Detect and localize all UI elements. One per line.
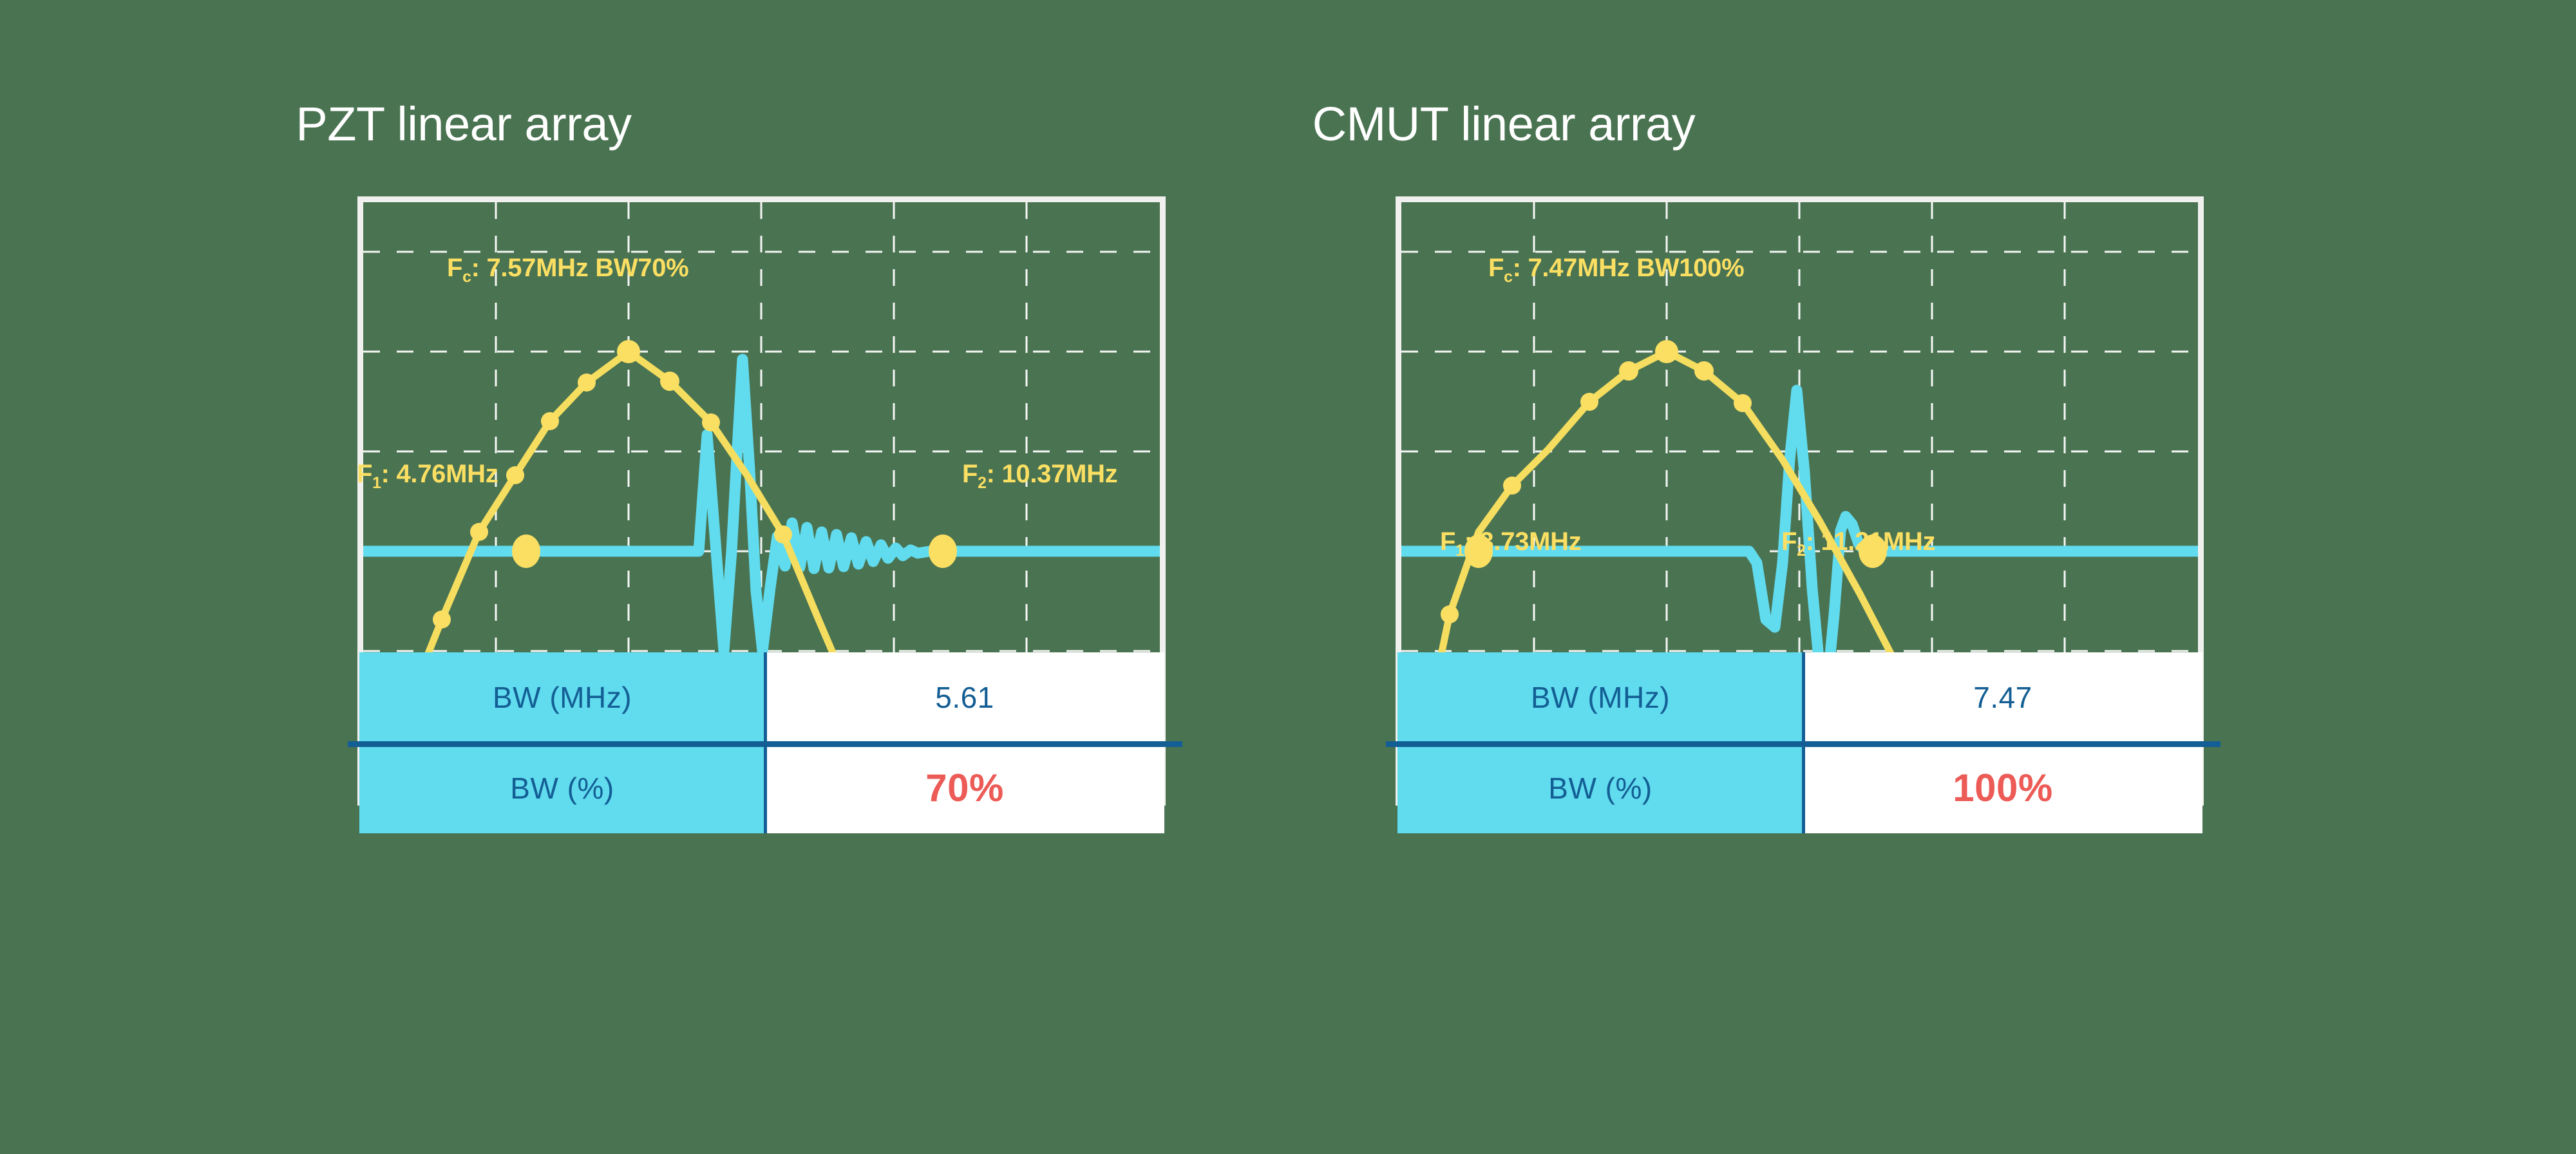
panel-title-cmut: CMUT linear array [924, 97, 2083, 151]
bw-mhz-label-pzt: BW (MHz) [359, 652, 765, 743]
annotation-center-sub-pzt: c [462, 269, 471, 286]
annotation-center-prefix-cmut: F [1488, 254, 1504, 282]
annotation-lower-cmut: F1: 3.73MHz [1440, 527, 1581, 560]
annotation-lower-prefix-pzt: F [357, 460, 372, 488]
annotation-upper-prefix-cmut: F [1781, 527, 1797, 556]
annotation-lower-prefix-cmut: F [1440, 527, 1455, 556]
annotation-upper-prefix-pzt: F [962, 460, 978, 488]
panel-title-pzt: PZT linear array [0, 97, 1043, 151]
bw-percent-label-pzt: BW (%) [359, 743, 765, 834]
annotation-center-text-pzt: : 7.57MHz BW70% [471, 254, 689, 282]
bw-mhz-label-cmut: BW (MHz) [1397, 652, 1803, 743]
annotation-lower-pzt: F1: 4.76MHz [357, 460, 498, 493]
annotation-center-cmut: Fc: 7.47MHz BW100% [1488, 254, 1744, 287]
annotation-lower-sub-cmut: 1 [1455, 542, 1464, 560]
annotation-center-text-cmut: : 7.47MHz BW100% [1513, 254, 1745, 282]
cutoff-marker-f2-pzt [929, 534, 957, 568]
annotation-upper-sub-cmut: 2 [1797, 542, 1806, 560]
annotation-lower-text-cmut: : 3.73MHz [1464, 527, 1582, 556]
bw-table-cmut: BW (MHz) 7.47 BW (%) 100% [1397, 652, 2202, 833]
annotation-upper-text-cmut: : 11.21MHz [1806, 527, 1936, 556]
annotation-lower-text-pzt: : 4.76MHz [381, 460, 498, 488]
annotation-center-pzt: Fc: 7.57MHz BW70% [447, 254, 688, 287]
annotation-upper-sub-pzt: 2 [978, 475, 987, 492]
cutoff-marker-f1-pzt [512, 534, 540, 568]
panel-pzt: PZT linear array [0, 0, 1159, 1154]
comparison-figure: PZT linear array [0, 0, 2576, 1154]
table-row-divider-cmut [1386, 741, 2221, 747]
annotation-center-prefix-pzt: F [447, 254, 462, 282]
bw-percent-value-cmut: 100% [1803, 743, 2202, 834]
annotation-upper-cmut: F2: 11.21MHz [1781, 527, 1935, 560]
panel-cmut: CMUT linear array [1040, 0, 2199, 1154]
annotation-lower-sub-pzt: 1 [372, 475, 381, 492]
bw-mhz-value-cmut: 7.47 [1803, 652, 2202, 743]
annotation-center-sub-cmut: c [1504, 269, 1513, 286]
bw-percent-label-cmut: BW (%) [1397, 743, 1803, 834]
